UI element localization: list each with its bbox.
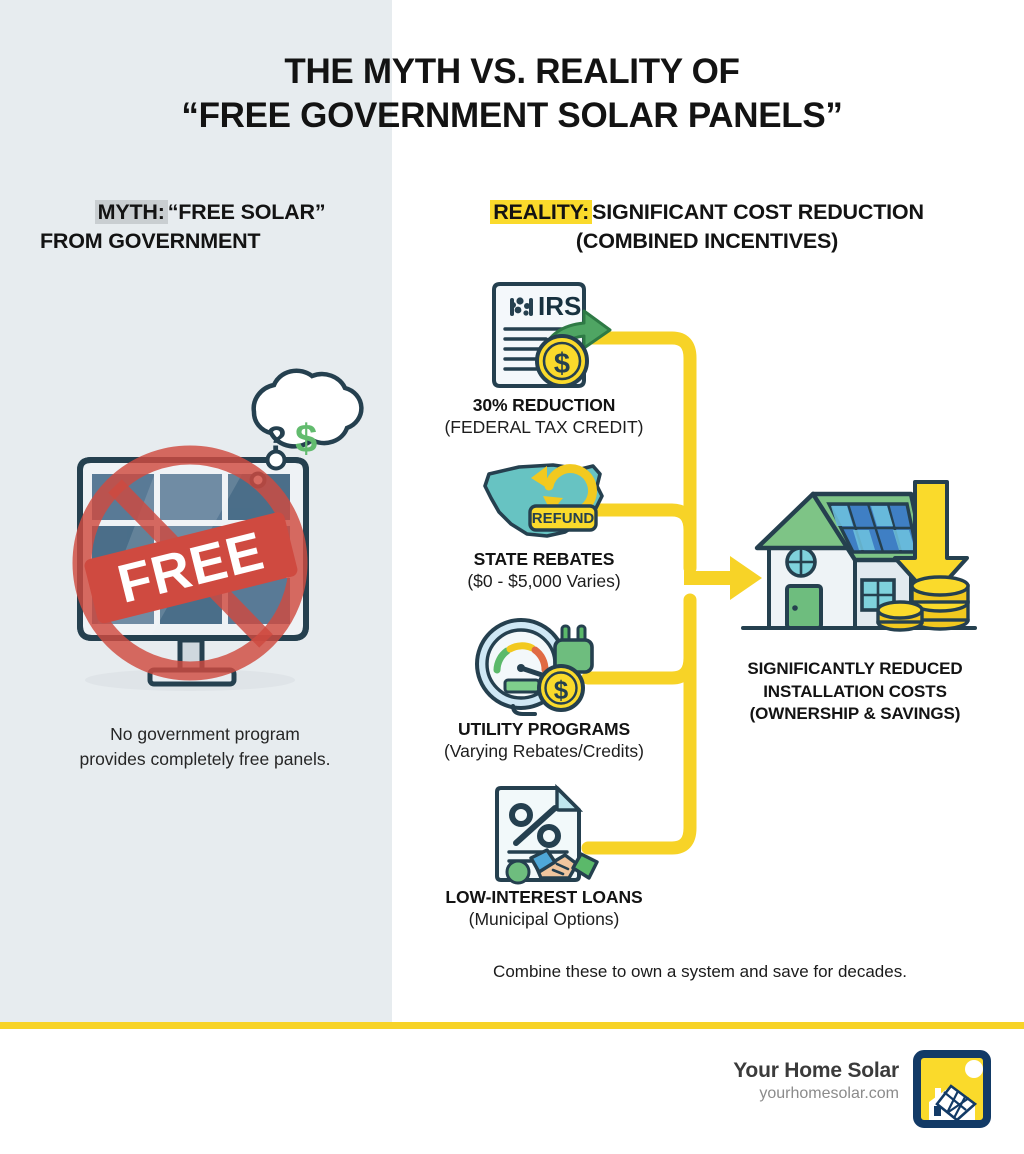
myth-caption-line1: No government program [110,724,300,744]
incentive-title: UTILITY PROGRAMS [394,719,694,740]
result-caption-line2: INSTALLATION COSTS [700,681,1010,704]
yellow-divider-bar [0,1022,1024,1029]
loan-handshake-icon [394,782,694,882]
myth-caption-line2: provides completely free panels. [80,749,331,769]
irs-label: IRS [538,291,581,321]
svg-text:$: $ [554,348,570,380]
free-solar-myth-illustration: ? $ FREE [40,398,370,703]
brand-url[interactable]: yourhomesolar.com [733,1085,899,1103]
incentive-item-low-interest-loans: LOW-INTEREST LOANS (Municipal Options) [394,782,694,930]
house-solar-logo-icon [913,1050,991,1128]
thought-dollar-sign: $ [295,417,317,461]
myth-heading-line1: “FREE SOLAR” [168,200,326,224]
incentive-subtitle: (Varying Rebates/Credits) [394,741,694,762]
myth-caption: No government program provides completel… [20,722,390,773]
page-title: THE MYTH VS. REALITY OF “FREE GOVERNMENT… [0,50,1024,138]
us-map-refund-icon: REFUND [394,452,694,544]
incentive-item-federal-tax-credit: IRS $ 30% REDUCTION (FEDERAL TAX CRE [394,278,694,438]
irs-document-icon: IRS $ [394,278,694,390]
reality-label-badge: REALITY: [490,200,592,224]
incentive-label: 30% REDUCTION (FEDERAL TAX CREDIT) [394,395,694,438]
incentive-item-utility-programs: $ UTILITY PROGRAMS (Varying Rebates/Cred… [394,618,694,762]
incentive-label: STATE REBATES ($0 - $5,000 Varies) [394,549,694,592]
svg-text:$: $ [554,675,569,705]
reality-heading-line1: SIGNIFICANT COST REDUCTION [592,200,924,224]
incentive-title: LOW-INTEREST LOANS [394,887,694,908]
refund-badge-text: REFUND [532,510,595,527]
thought-question-mark: ? [266,420,287,458]
incentive-subtitle: ($0 - $5,000 Varies) [394,571,694,592]
house-solar-savings-icon [735,470,985,635]
incentive-label: UTILITY PROGRAMS (Varying Rebates/Credit… [394,719,694,762]
combine-note: Combine these to own a system and save f… [400,962,1000,982]
incentive-title: STATE REBATES [394,549,694,570]
incentive-label: LOW-INTEREST LOANS (Municipal Options) [394,887,694,930]
myth-heading-line2: FROM GOVERNMENT [40,227,380,256]
page-title-line1: THE MYTH VS. REALITY OF [284,52,739,91]
incentive-subtitle: (FEDERAL TAX CREDIT) [394,417,694,438]
result-caption-line1: SIGNIFICANTLY REDUCED [700,658,1010,681]
handshake-icon [531,850,597,878]
incentive-item-state-rebates: REFUND STATE REBATES ($0 - $5,000 Varies… [394,452,694,592]
infographic-page: THE MYTH VS. REALITY OF “FREE GOVERNMENT… [0,0,1024,1154]
result-caption-line3: (OWNERSHIP & SAVINGS) [700,703,1010,726]
utility-meter-plug-icon: $ [394,618,694,714]
myth-label-badge: MYTH: [95,200,168,224]
reality-heading: REALITY:SIGNIFICANT COST REDUCTION (COMB… [412,198,1002,255]
footer-brand: Your Home Solar yourhomesolar.com [733,1059,899,1103]
myth-heading: MYTH:“FREE SOLAR” FROM GOVERNMENT [40,198,380,255]
reality-heading-line2: (COMBINED INCENTIVES) [412,227,1002,256]
incentive-subtitle: (Municipal Options) [394,909,694,930]
brand-name: Your Home Solar [733,1059,899,1083]
incentive-title: 30% REDUCTION [394,395,694,416]
result-caption: SIGNIFICANTLY REDUCED INSTALLATION COSTS… [700,658,1010,726]
page-title-line2: “FREE GOVERNMENT SOLAR PANELS” [0,94,1024,138]
